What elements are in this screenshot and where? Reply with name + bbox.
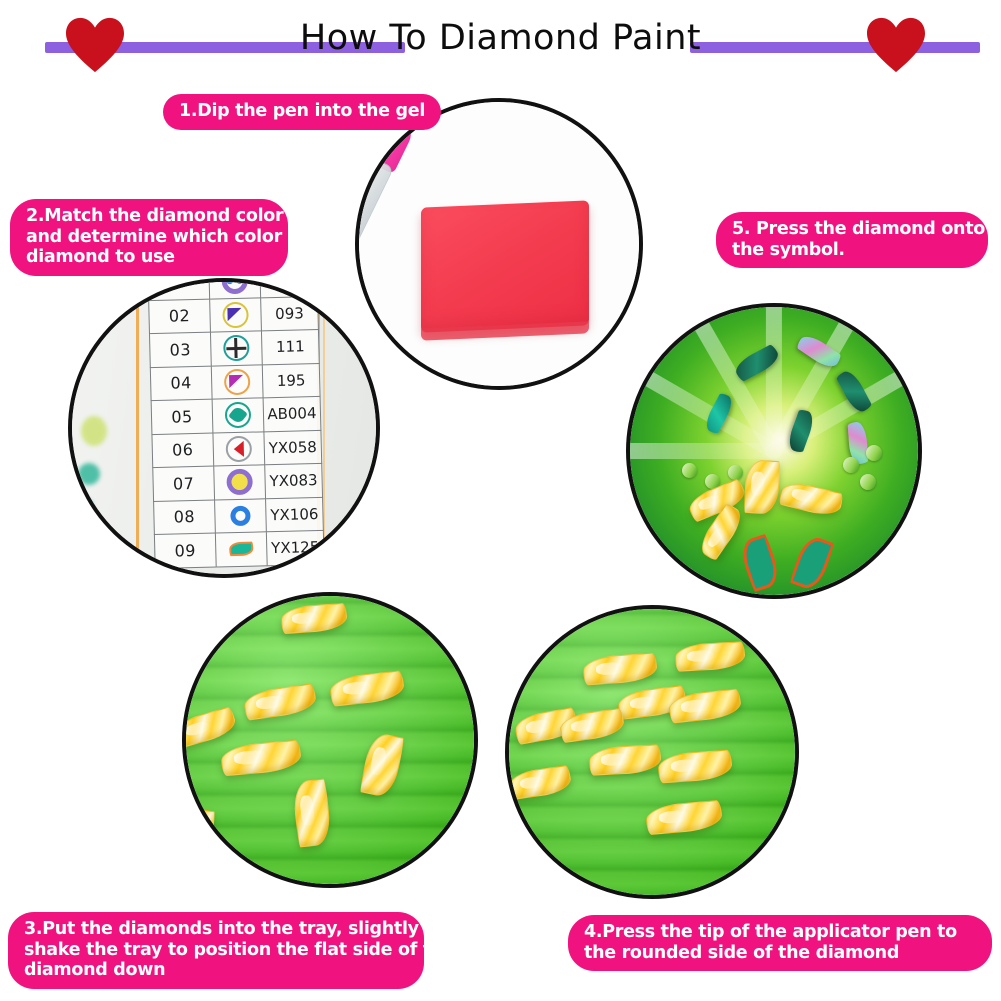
chart-number: 07 xyxy=(153,467,215,502)
table-row: 07 YX083 xyxy=(153,464,323,502)
step-5-photo-circle xyxy=(626,303,922,599)
chart-symbol xyxy=(210,331,262,366)
chart-symbol xyxy=(215,499,267,534)
step-2-line-2: and determine which color xyxy=(26,227,272,248)
chart-number: 05 xyxy=(151,400,213,435)
chart-number: 08 xyxy=(154,500,216,535)
chart-number: 03 xyxy=(150,333,212,368)
step-4-photo-circle xyxy=(505,605,799,899)
placed-round-diamond xyxy=(843,457,859,473)
step-1-photo-circle xyxy=(355,98,643,390)
chart-number: 06 xyxy=(152,433,214,468)
chart-margin-line xyxy=(136,282,139,574)
table-row: 02 093 xyxy=(149,296,319,334)
chart-code: YX125 xyxy=(266,531,324,566)
chart-symbol xyxy=(212,398,264,433)
table-row: 05 AB004 xyxy=(151,397,321,435)
table-row: 06 YX058 xyxy=(152,430,322,468)
step-2-line-3: diamond to use xyxy=(26,247,272,268)
canvas-color-blob xyxy=(78,463,100,485)
table-row: 09 YX125 xyxy=(154,531,324,569)
step-4-line-1: 4.Press the tip of the applicator pen to xyxy=(584,922,976,943)
chart-code: YX106 xyxy=(265,497,323,532)
table-row: 03 111 xyxy=(150,330,320,368)
plus-icon xyxy=(223,335,250,362)
step-3-line-2: shake the tray to position the flat side… xyxy=(24,940,408,961)
step-4-line-2: the rounded side of the diamond xyxy=(584,943,976,964)
step-2-label: 2.Match the diamond color and determine … xyxy=(10,199,288,276)
chart-code: 195 xyxy=(262,363,320,398)
diamond-color-chart-table: 028 02 093 03 111 xyxy=(147,282,325,569)
chart-code: AB004 xyxy=(263,397,321,432)
placed-round-diamond xyxy=(682,463,697,478)
chart-symbol xyxy=(211,365,263,400)
step-3-line-1: 3.Put the diamonds into the tray, slight… xyxy=(24,919,408,940)
disc-yellow-icon xyxy=(226,469,253,496)
table-row: 04 195 xyxy=(150,363,320,401)
diamond-tray xyxy=(186,596,474,884)
chart-code: 111 xyxy=(261,330,319,365)
chart-number: 02 xyxy=(149,299,211,334)
step-2-line-1: 2.Match the diamond color xyxy=(26,206,272,227)
ring-blue-icon xyxy=(227,503,254,530)
page-title: How To Diamond Paint xyxy=(0,18,1001,58)
step-2-photo-circle: 028 02 093 03 111 xyxy=(68,278,380,578)
chart-number: 09 xyxy=(154,534,216,569)
chart-number: 04 xyxy=(150,366,212,401)
step-3-line-3: diamond down xyxy=(24,960,408,981)
eyes-icon xyxy=(221,282,248,295)
leaf-teal-icon xyxy=(228,536,255,563)
canvas-color-blob xyxy=(75,498,93,516)
step-5-line-2: the symbol. xyxy=(732,240,972,261)
page-header: How To Diamond Paint xyxy=(0,0,1001,92)
chart-code: YX083 xyxy=(264,464,322,499)
chart-symbol xyxy=(210,298,262,333)
step-5-label: 5. Press the diamond onto the symbol. xyxy=(716,212,988,268)
chart-symbol xyxy=(213,432,265,467)
chart-code: 093 xyxy=(260,296,318,331)
step-1-label: 1.Dip the pen into the gel xyxy=(163,94,441,130)
table-row: 08 YX106 xyxy=(154,497,324,535)
gel-pad xyxy=(421,201,589,333)
arrow-red-icon xyxy=(225,436,252,463)
step-4-label: 4.Press the tip of the applicator pen to… xyxy=(568,915,992,971)
chart-code: YX058 xyxy=(264,430,322,465)
pill-teal-icon xyxy=(225,402,252,429)
chart-symbol xyxy=(209,282,261,299)
chart-symbol xyxy=(215,532,267,567)
triangle-purple-icon xyxy=(222,302,249,329)
chart-number xyxy=(148,282,210,301)
triangle-magenta-icon xyxy=(224,369,251,396)
step-3-label: 3.Put the diamonds into the tray, slight… xyxy=(8,912,424,989)
step-3-photo-circle xyxy=(182,592,478,888)
step-1-line-1: 1.Dip the pen into the gel xyxy=(179,101,425,122)
chart-symbol xyxy=(214,465,266,500)
step-5-line-1: 5. Press the diamond onto xyxy=(732,219,972,240)
